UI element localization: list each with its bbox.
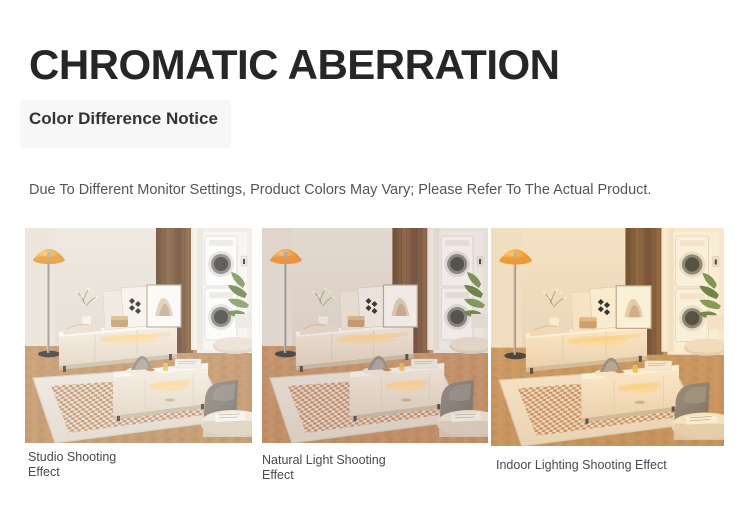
room-scene-image [491, 228, 724, 446]
color-variance-notice: Due To Different Monitor Settings, Produ… [29, 180, 651, 200]
page-subtitle: Color Difference Notice [29, 108, 218, 130]
room-scene-image [262, 228, 488, 443]
panel-caption: Natural Light Shooting Effect [262, 453, 402, 483]
page-title: CHROMATIC ABERRATION [29, 41, 560, 89]
panel-studio-shooting[interactable] [25, 228, 252, 443]
panel-caption: Indoor Lighting Shooting Effect [496, 458, 716, 473]
panel-indoor-lighting-shooting[interactable] [491, 228, 724, 446]
panel-natural-light-shooting[interactable] [262, 228, 488, 443]
room-scene-image [25, 228, 252, 443]
chromatic-aberration-page: CHROMATIC ABERRATION Color Difference No… [0, 0, 750, 526]
panel-caption: Studio Shooting Effect [28, 450, 148, 480]
